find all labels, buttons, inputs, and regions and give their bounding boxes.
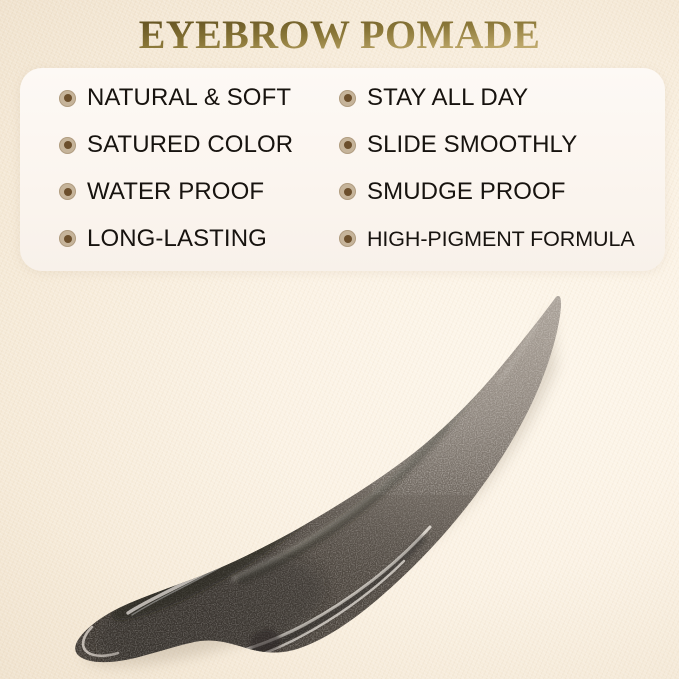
feature-item-stay-all-day: STAY ALL DAY (325, 75, 665, 122)
bullet-icon (339, 90, 356, 107)
feature-item-water-proof: WATER PROOF (20, 169, 325, 216)
feature-label: SATURED COLOR (87, 132, 293, 158)
feature-item-slide-smoothly: SLIDE SMOOTHLY (325, 122, 665, 169)
feature-item-high-pigment-formula: HIGH-PIGMENT FORMULA (325, 215, 665, 262)
bullet-icon (339, 183, 356, 200)
product-banner: EYEBROW POMADE NATURAL & SOFT STAY ALL D… (0, 0, 679, 679)
bullet-icon (59, 183, 76, 200)
swatch-tail-feather (400, 275, 679, 475)
feature-card: NATURAL & SOFT STAY ALL DAY SATURED COLO… (20, 68, 665, 271)
feature-label: HIGH-PIGMENT FORMULA (367, 226, 635, 252)
feature-label: STAY ALL DAY (367, 85, 528, 111)
feature-label: SMUDGE PROOF (367, 179, 566, 205)
feature-list: NATURAL & SOFT STAY ALL DAY SATURED COLO… (20, 68, 665, 271)
bullet-icon (59, 90, 76, 107)
feature-item-natural-soft: NATURAL & SOFT (20, 75, 325, 122)
feature-item-long-lasting: LONG-LASTING (20, 215, 325, 262)
swatch-body (0, 275, 679, 679)
feature-label: SLIDE SMOOTHLY (367, 132, 577, 158)
page-title: EYEBROW POMADE (0, 11, 679, 59)
bullet-icon (339, 137, 356, 154)
pomade-swatch (0, 275, 679, 679)
bullet-icon (339, 230, 356, 247)
bullet-icon (59, 137, 76, 154)
feature-item-smudge-proof: SMUDGE PROOF (325, 169, 665, 216)
feature-label: WATER PROOF (87, 179, 264, 205)
feature-item-satured-color: SATURED COLOR (20, 122, 325, 169)
bullet-icon (59, 230, 76, 247)
pomade-swatch-graphic (0, 275, 679, 679)
feature-label: LONG-LASTING (87, 226, 267, 252)
feature-label: NATURAL & SOFT (87, 85, 291, 111)
